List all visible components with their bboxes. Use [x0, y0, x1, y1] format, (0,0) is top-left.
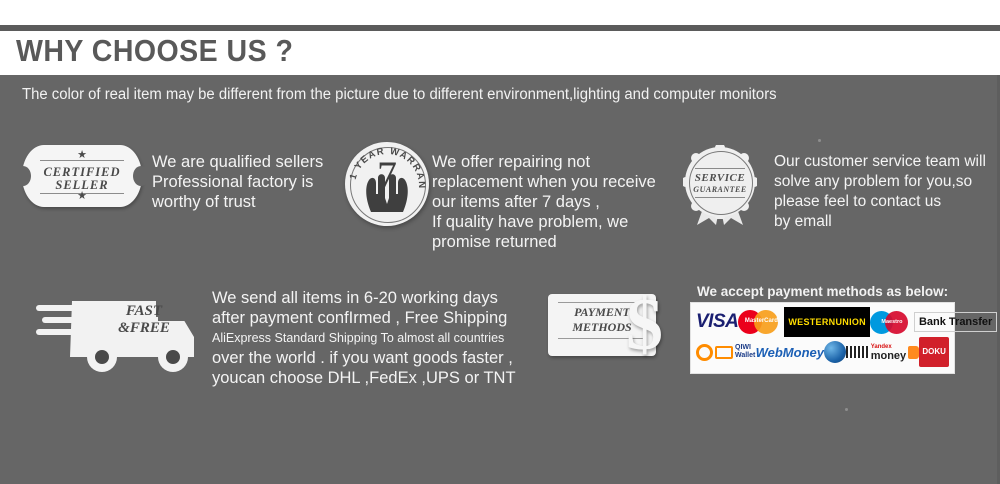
- service-guarantee-line1: SERVICE: [683, 172, 757, 184]
- payment-logos-panel: VISA MasterCard WESTERN UNION: [690, 302, 955, 374]
- barcode-logo: [846, 339, 870, 365]
- mastercard-logo: MasterCard: [738, 309, 784, 335]
- color-disclaimer-text: The color of real item may be different …: [22, 86, 777, 104]
- bank-transfer-label: Bank Transfer: [914, 312, 997, 332]
- payment-logo-row-bottom: QIWI Wallet WebMoney Yandex: [694, 337, 951, 367]
- service-text-line-4: by emall: [774, 212, 986, 232]
- maestro-circles: Maestro: [870, 311, 914, 334]
- truck-label-line2: &FREE: [96, 320, 192, 337]
- qiwi-wallet-icon: [715, 346, 733, 359]
- truck-label: FAST &FREE: [96, 303, 192, 337]
- warranty-text-line-1: We offer repairing not: [432, 152, 656, 172]
- certified-seller-text: We are qualified sellers Professional fa…: [152, 152, 323, 212]
- page-title: WHY CHOOSE US ?: [16, 33, 293, 69]
- webmoney-label: WebMoney: [756, 345, 824, 360]
- doku-label2: KU: [934, 348, 946, 356]
- thumbs-up-icon: [908, 346, 919, 359]
- service-text-line-2: solve any problem for you,so: [774, 172, 986, 192]
- warranty-text-line-5: promise returned: [432, 232, 656, 252]
- doku-label1: DO: [922, 348, 934, 356]
- truck-label-line1: FAST: [96, 303, 192, 320]
- certified-seller-badge: ★ CERTIFIED SELLER ★: [22, 145, 142, 207]
- maestro-label: Maestro: [870, 319, 914, 325]
- payment-methods-card: PAYMENT METHODS $: [548, 288, 688, 370]
- visa-label: VISA: [696, 311, 738, 333]
- doku-logo: DO KU: [919, 337, 949, 367]
- western-union-label1: WESTERN: [788, 318, 835, 327]
- money-label: money: [871, 352, 906, 361]
- globe-icon: [824, 341, 846, 363]
- service-text-line-1: Our customer service team will: [774, 152, 986, 172]
- qiwi-wallet-logo: QIWI Wallet: [696, 339, 755, 365]
- western-union-label2: UNION: [835, 318, 866, 327]
- service-guarantee-badge: SERVICE GUARANTEE: [683, 145, 763, 225]
- qiwi-label2: Wallet: [735, 352, 755, 360]
- shipping-text: We send all items in 6-20 working days a…: [212, 288, 516, 388]
- top-white-strip: [0, 0, 1000, 25]
- yandex-money-logo: Yandex money: [871, 339, 919, 365]
- yandex-money-labels: Yandex money: [871, 343, 906, 361]
- service-text-line-3: please feel to contact us: [774, 192, 986, 212]
- svg-text:1 YEAR WARRANTY: 1 YEAR WARRANTY: [345, 142, 427, 190]
- speck-top: [818, 139, 821, 142]
- warranty-text-line-3: our items after 7 days ,: [432, 192, 656, 212]
- service-dash-bottom: [695, 197, 745, 198]
- shipping-standard-line: AliExpress Standard Shipping To almost a…: [212, 328, 516, 348]
- barcode-icon: [846, 346, 870, 358]
- star-bottom-icon: ★: [22, 189, 142, 202]
- bank-transfer-logo: Bank Transfer: [914, 309, 997, 335]
- mastercard-circles: MasterCard: [738, 310, 784, 334]
- fast-free-truck-icon: FAST &FREE: [36, 283, 206, 378]
- service-guarantee-text: Our customer service team will solve any…: [774, 152, 986, 232]
- shipping-text-line-3: over the world . if you want goods faste…: [212, 348, 516, 368]
- maestro-logo: Maestro: [870, 309, 914, 335]
- dollar-sign-icon: $: [626, 288, 663, 362]
- western-union-logo: WESTERN UNION: [784, 307, 870, 337]
- certified-seller-text-line-1: We are qualified sellers: [152, 152, 323, 172]
- warranty-text-line-2: replacement when you receive: [432, 172, 656, 192]
- qiwi-labels: QIWI Wallet: [735, 344, 755, 360]
- qiwi-label1: QIWI: [735, 344, 755, 352]
- service-dash-top: [695, 168, 745, 169]
- why-choose-us-banner: WHY CHOOSE US ? The color of real item m…: [0, 0, 1000, 484]
- plate-dash-top: [40, 160, 124, 161]
- body-panel: [0, 75, 1000, 484]
- service-guarantee-line2: GUARANTEE: [683, 185, 757, 194]
- webmoney-logo: WebMoney: [756, 339, 824, 365]
- visa-logo: VISA: [696, 309, 738, 335]
- one-year-warranty-badge: 7 1 YEAR WARRANTY: [345, 142, 429, 226]
- mastercard-label: MasterCard: [738, 318, 784, 324]
- certified-seller-text-line-3: worthy of trust: [152, 192, 323, 212]
- globe-logo: [824, 339, 846, 365]
- shipping-text-line-4: youcan choose DHL ,FedEx ,UPS or TNT: [212, 368, 516, 388]
- certified-seller-text-line-2: Professional factory is: [152, 172, 323, 192]
- shipping-text-line-2: after payment confIrmed , Free Shipping: [212, 308, 516, 328]
- payment-logo-row-top: VISA MasterCard WESTERN UNION: [694, 307, 951, 337]
- warranty-text: We offer repairing not replacement when …: [432, 152, 656, 252]
- warranty-text-line-4: If quality have problem, we: [432, 212, 656, 232]
- qiwi-ring-icon: [696, 344, 713, 361]
- warranty-arc-text: 1 YEAR WARRANTY: [345, 142, 429, 226]
- shipping-text-line-1: We send all items in 6-20 working days: [212, 288, 516, 308]
- payment-methods-heading: We accept payment methods as below:: [697, 284, 948, 299]
- speck-bottom: [845, 408, 848, 411]
